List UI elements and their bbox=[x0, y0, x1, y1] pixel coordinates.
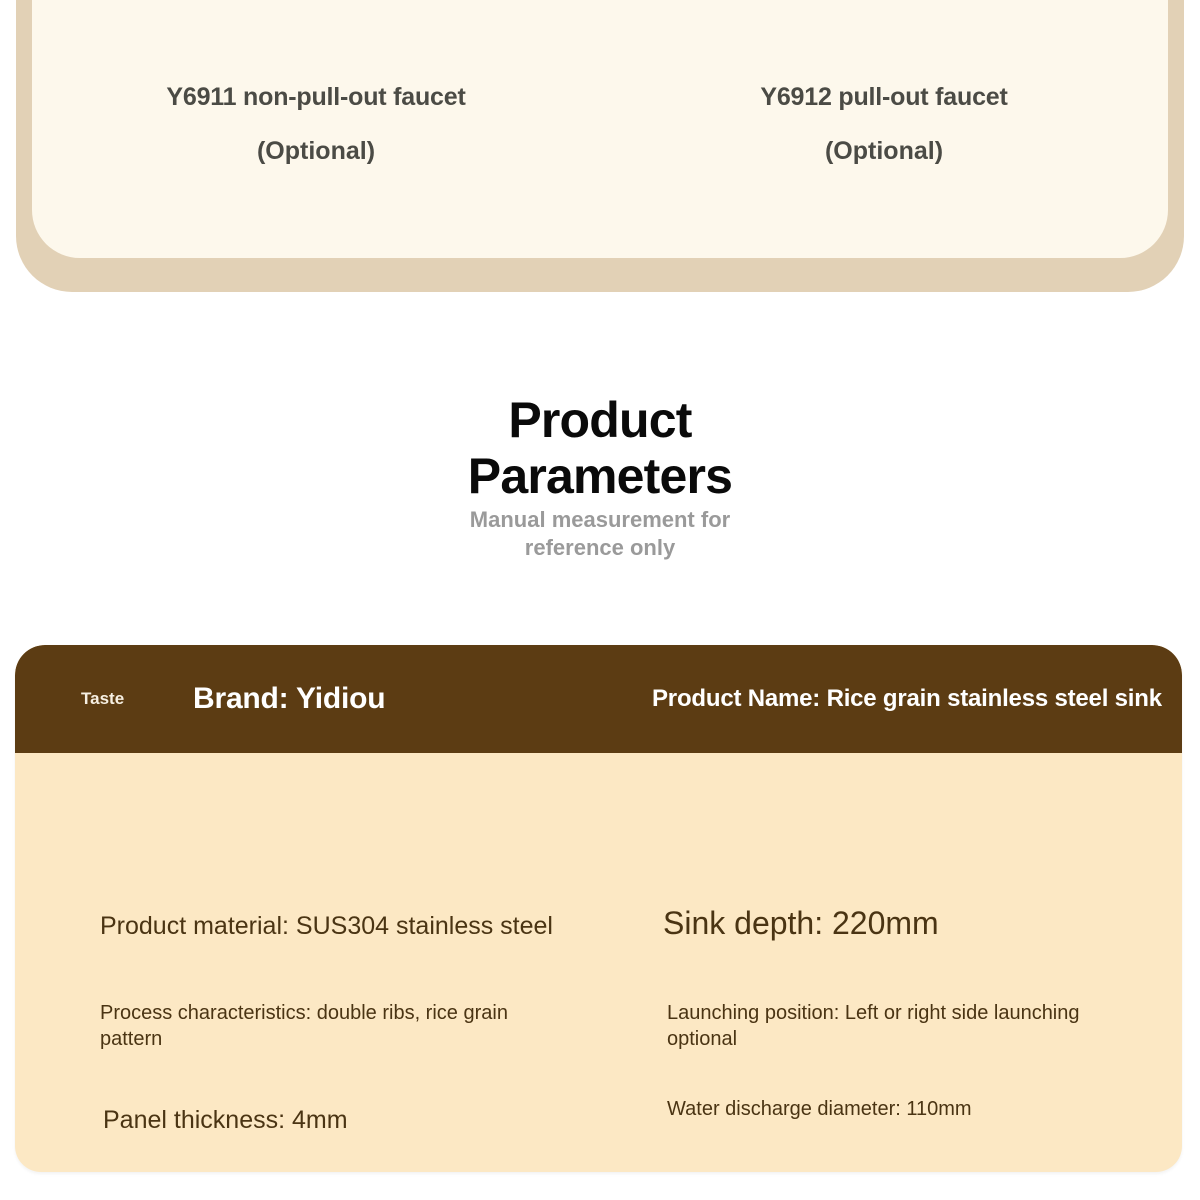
faucet-option-1-label: Y6911 non-pull-out faucet bbox=[32, 83, 600, 112]
page-title-line2: Parameters bbox=[468, 448, 732, 504]
spec-header-taste-label: Taste bbox=[81, 689, 124, 709]
faucet-option-1-optional: (Optional) bbox=[32, 137, 600, 166]
spec-table-body: Product material: SUS304 stainless steel… bbox=[15, 753, 1182, 1172]
spec-cell-water-discharge-diameter: Water discharge diameter: 110mm bbox=[667, 1097, 1117, 1123]
spec-table-header: Taste Brand: Yidiou Product Name: Rice g… bbox=[15, 645, 1182, 753]
faucet-card-outer-border: Y6911 non-pull-out faucet (Optional) bbox=[16, 0, 1184, 292]
faucet-columns: Y6911 non-pull-out faucet (Optional) bbox=[32, 0, 1168, 258]
faucet-option-2-label: Y6912 pull-out faucet bbox=[600, 83, 1168, 112]
spec-header-product-name: Product Name: Rice grain stainless steel… bbox=[652, 685, 1162, 713]
faucet-option-2-optional: (Optional) bbox=[600, 137, 1168, 166]
spec-header-brand: Brand: Yidiou bbox=[193, 682, 385, 716]
page-title: Product Parameters bbox=[430, 392, 770, 504]
spec-cell-process-characteristics: Process characteristics: double ribs, ri… bbox=[100, 1001, 555, 1052]
page-subtitle: Manual measurement for reference only bbox=[435, 506, 765, 561]
spec-cell-launching-position: Launching position: Left or right side l… bbox=[667, 1001, 1127, 1052]
faucet-card: Y6911 non-pull-out faucet (Optional) bbox=[32, 0, 1168, 258]
product-parameters-table: Taste Brand: Yidiou Product Name: Rice g… bbox=[15, 645, 1182, 1172]
page-title-line1: Product bbox=[508, 392, 691, 448]
spec-cell-sink-depth: Sink depth: 220mm bbox=[663, 903, 1103, 944]
product-parameters-title-block: Product Parameters Manual measurement fo… bbox=[0, 392, 1200, 561]
spec-cell-product-material: Product material: SUS304 stainless steel bbox=[100, 910, 620, 942]
spec-cell-panel-thickness: Panel thickness: 4mm bbox=[103, 1104, 543, 1136]
faucet-option-2[interactable]: Y6912 pull-out faucet (Optional) bbox=[600, 0, 1168, 258]
faucet-option-1[interactable]: Y6911 non-pull-out faucet (Optional) bbox=[32, 0, 600, 258]
